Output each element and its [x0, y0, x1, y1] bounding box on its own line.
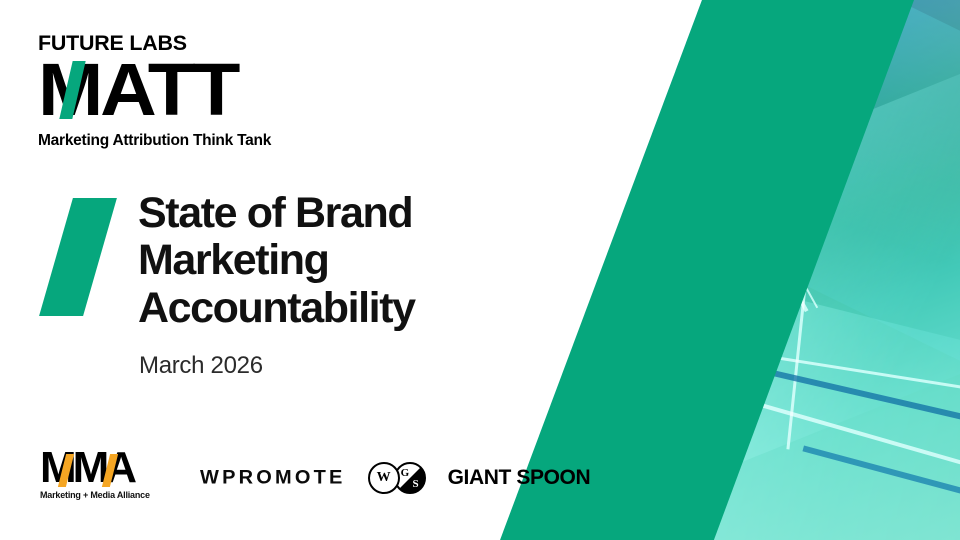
partner-logo-wgs: G S W [368, 461, 430, 495]
partner-logo-wpromote: WPROMOTE [200, 467, 346, 489]
matt-logo-lockup: FUTURE LABS MATT Marketing Attribution T… [38, 33, 338, 149]
matt-tagline: Marketing Attribution Think Tank [38, 133, 338, 149]
mma-tagline: Marketing + Media Alliance [40, 490, 172, 500]
wgs-letter-w: W [370, 464, 398, 492]
partner-logo-mma: MMA Marketing + Media Alliance [40, 452, 172, 504]
title-slide: FUTURE LABS MATT Marketing Attribution T… [0, 0, 960, 540]
wgs-letter-s: S [412, 478, 418, 490]
mma-mark: MMA [40, 452, 166, 488]
page-subtitle-date: March 2026 [139, 352, 263, 380]
wgs-left-circle-icon: W [368, 462, 400, 494]
title-green-slash-icon [39, 198, 117, 316]
wgs-letter-g: G [401, 467, 410, 479]
matt-wordmark-row: MATT [38, 59, 288, 121]
page-title: State of Brand Marketing Accountability [138, 190, 538, 332]
mma-wordmark: MMA [40, 452, 133, 488]
partner-logo-giant-spoon: GIANT SPOON [448, 466, 591, 490]
partner-logo-strip: MMA Marketing + Media Alliance WPROMOTE … [40, 448, 590, 508]
content-column: FUTURE LABS MATT Marketing Attribution T… [0, 0, 600, 540]
